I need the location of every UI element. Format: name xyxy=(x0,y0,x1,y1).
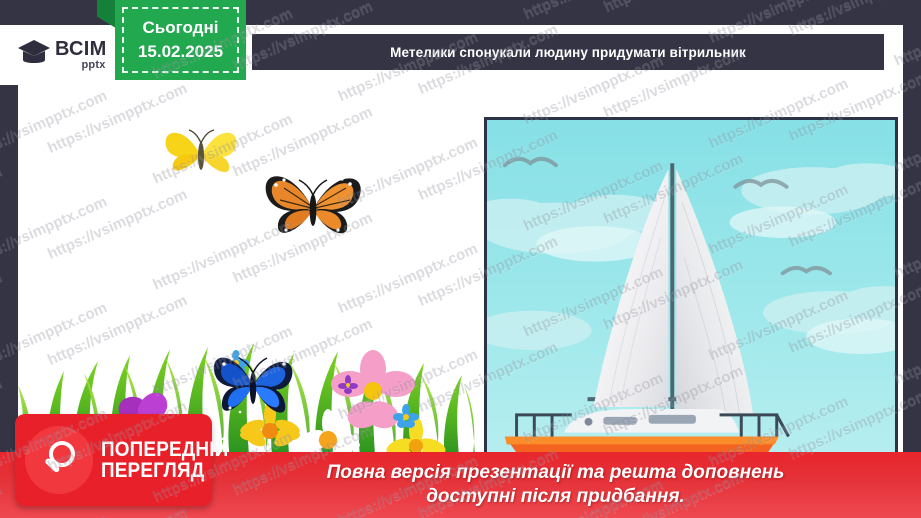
preview-label-line2: ПЕРЕГЛЯД xyxy=(101,460,228,481)
logo-subtitle: pptx xyxy=(82,60,106,71)
monarch-butterfly-icon xyxy=(254,162,372,254)
watermark-text: https://vsimpptx.com xyxy=(0,375,4,452)
today-date: 15.02.2025 xyxy=(138,42,223,62)
magnifier-icon xyxy=(25,426,93,494)
preview-badge[interactable]: ПОПЕРЕДНІЙ ПЕРЕГЛЯД xyxy=(15,414,212,506)
brand-logo: ВСІМ pptx xyxy=(0,25,112,85)
preview-label-line1: ПОПЕРЕДНІЙ xyxy=(101,439,228,460)
sailboat-illustration xyxy=(484,117,898,469)
watermark-text: https://vsimpptx.com xyxy=(0,163,4,240)
today-date-badge: Сьогодні 15.02.2025 xyxy=(115,0,246,80)
purchase-notice-line1: Повна версія презентації та решта доповн… xyxy=(327,462,785,483)
butterflies-meadow-illustration xyxy=(18,90,478,470)
blue-morpho-butterfly-icon xyxy=(196,342,312,438)
purchase-notice-line2: доступні після придбання. xyxy=(426,486,685,507)
logo-title: ВСІМ xyxy=(55,39,107,59)
yellow-butterfly-icon xyxy=(156,120,246,190)
slide-title-bar: Метелики спонукали людину придумати вітр… xyxy=(252,34,884,70)
watermark-text: https://vsimpptx.com xyxy=(601,0,746,15)
presentation-slide-screenshot: ВСІМ pptx Сьогодні 15.02.2025 Метелики с… xyxy=(0,0,921,518)
graduation-cap-icon xyxy=(6,36,52,74)
watermark-text: https://vsimpptx.com xyxy=(521,0,666,23)
watermark-text: https://vsimpptx.com xyxy=(0,269,4,346)
today-label: Сьогодні xyxy=(143,18,219,38)
speed-lines-icon xyxy=(6,43,12,61)
page-title: Метелики спонукали людину придумати вітр… xyxy=(390,45,746,60)
